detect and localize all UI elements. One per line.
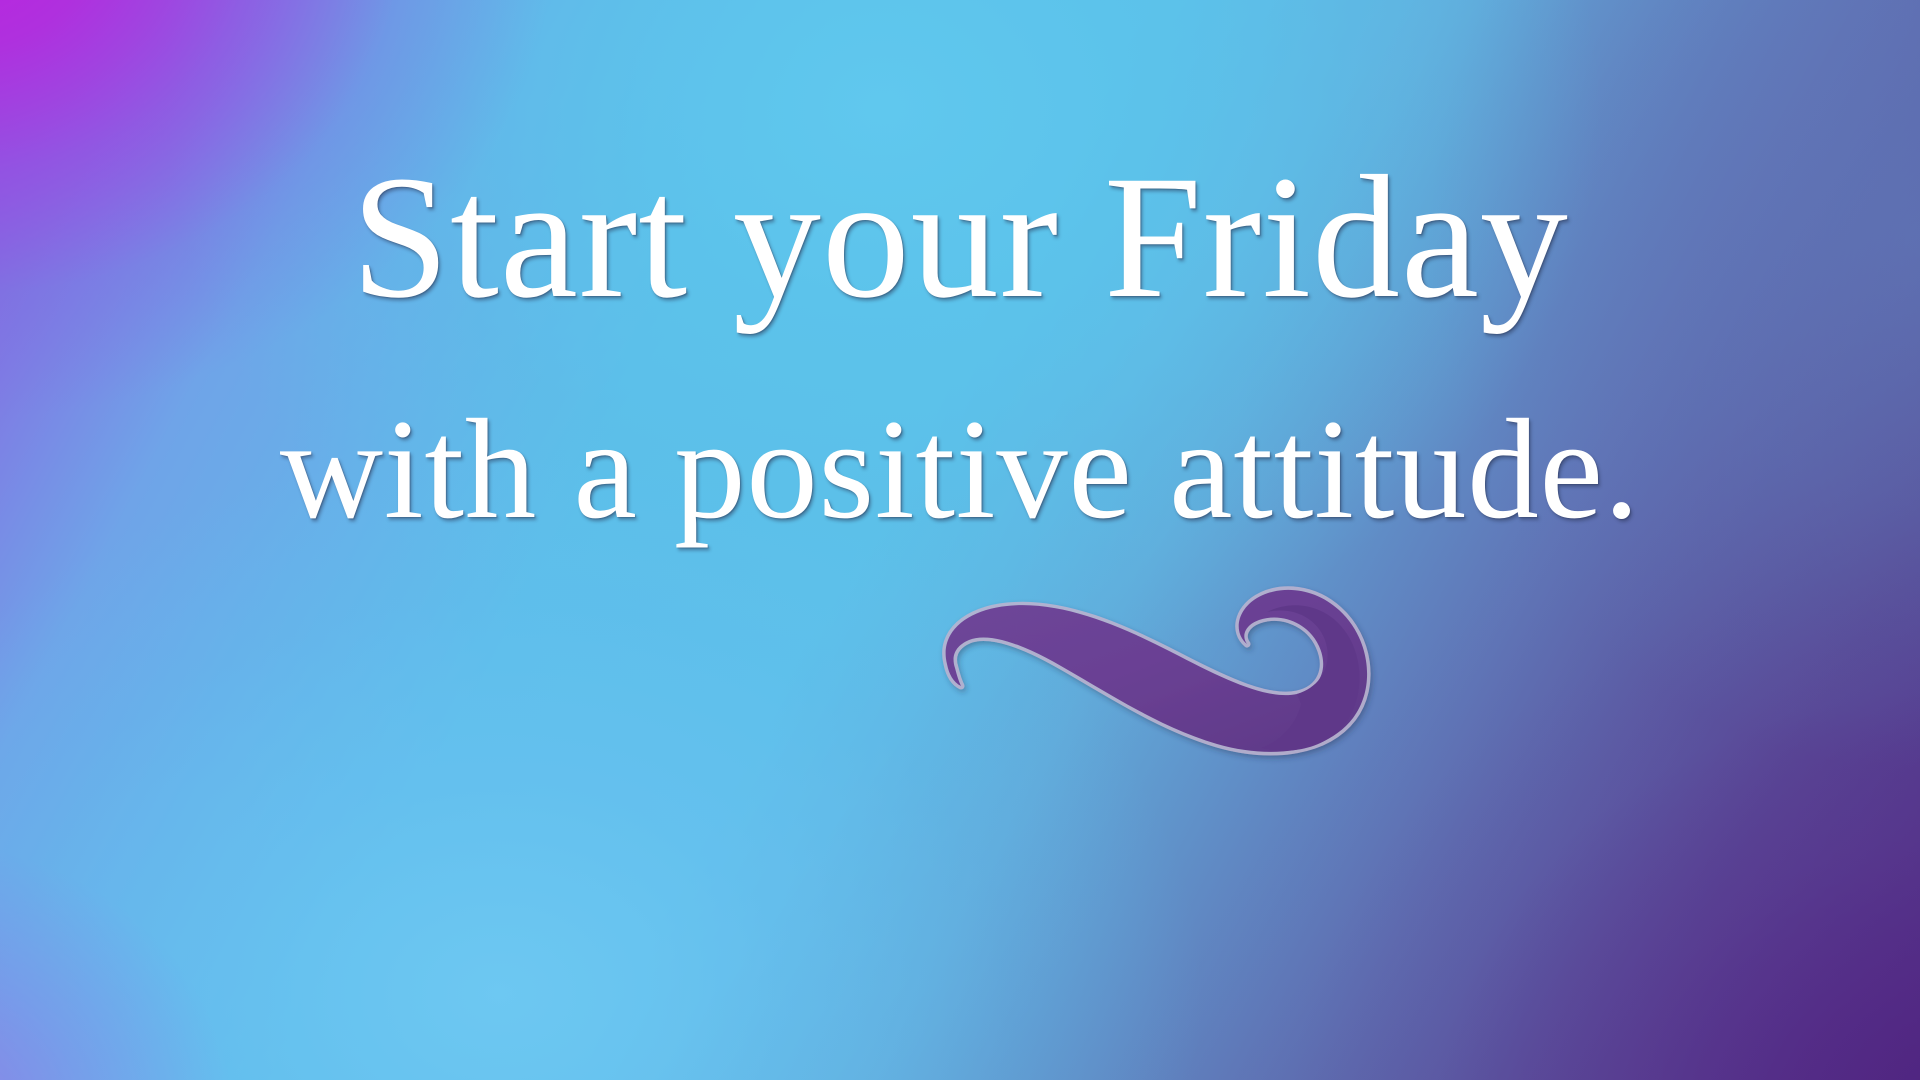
quote-poster: Start your Friday with a positive attitu…: [0, 0, 1920, 1080]
quote-line-2: with a positive attitude.: [280, 398, 1640, 541]
quote-line-1: Start your Friday: [351, 150, 1568, 326]
quote-content: Start your Friday with a positive attitu…: [0, 0, 1920, 1080]
